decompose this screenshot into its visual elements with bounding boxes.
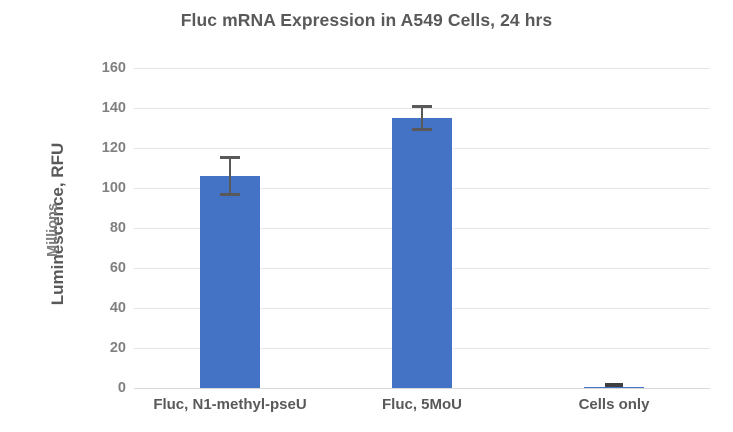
y-axis-tick-label: 40 (56, 301, 126, 316)
gridline (134, 68, 710, 69)
error-bar-cap-lower (220, 193, 240, 196)
y-axis-tick-label: 120 (56, 141, 126, 156)
bar-chart: Fluc mRNA Expression in A549 Cells, 24 h… (0, 0, 733, 432)
x-axis-tick-label: Cells only (518, 396, 710, 413)
bar[interactable] (200, 176, 260, 388)
bar[interactable] (392, 118, 452, 388)
y-axis-tick-label: 140 (56, 101, 126, 116)
y-axis-tick-label: 160 (56, 61, 126, 76)
y-axis-tick-label: 100 (56, 181, 126, 196)
error-bar-cap-lower (412, 128, 432, 131)
error-bar-stem (229, 156, 231, 196)
y-axis-tick-labels: 020406080100120140160 (56, 0, 126, 432)
y-axis-tick-label: 60 (56, 261, 126, 276)
x-axis-line (134, 388, 710, 389)
error-bar-cap-upper (412, 105, 432, 108)
error-bar-cap-upper (605, 383, 623, 387)
y-axis-tick-label: 0 (56, 381, 126, 396)
y-axis-tick-label: 80 (56, 221, 126, 236)
plot-area (134, 68, 710, 388)
x-axis-tick-label: Fluc, N1-methyl-pseU (134, 396, 326, 413)
error-bar-cap-upper (220, 156, 240, 159)
x-axis-tick-label: Fluc, 5MoU (326, 396, 518, 413)
y-axis-tick-label: 20 (56, 341, 126, 356)
